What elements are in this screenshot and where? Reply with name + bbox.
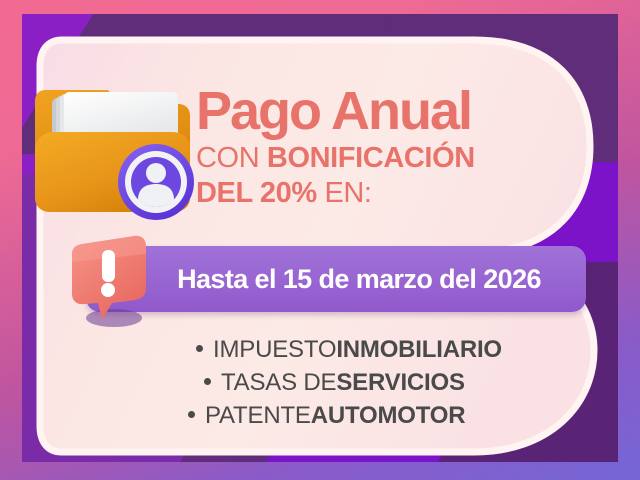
headline-line-3: DEL 20% EN: bbox=[196, 176, 556, 211]
folder-documents-user-icon bbox=[30, 72, 208, 232]
headline-line-2-plain: CON bbox=[196, 142, 267, 174]
list-item: PATENTE AUTOMOTOR bbox=[162, 400, 562, 433]
benefits-list: IMPUESTO INMOBILIARIO TASAS DE SERVICIOS… bbox=[162, 334, 562, 433]
headline-title: Pago Anual bbox=[196, 86, 556, 138]
exclamation-bubble-icon bbox=[58, 230, 162, 334]
headline-line-3-plain: EN: bbox=[317, 177, 372, 209]
list-item: IMPUESTO INMOBILIARIO bbox=[162, 334, 562, 367]
headline-line-2: CON BONIFICACIÓN bbox=[196, 141, 556, 176]
headline-block: Pago Anual CON BONIFICACIÓN DEL 20% EN: bbox=[196, 86, 556, 212]
bullet-dot-icon bbox=[204, 378, 211, 385]
list-item-plain: PATENTE bbox=[205, 400, 311, 433]
content-card: Pago Anual CON BONIFICACIÓN DEL 20% EN: … bbox=[34, 34, 618, 458]
list-item-plain: IMPUESTO bbox=[213, 334, 336, 367]
list-item-bold: SERVICIOS bbox=[336, 367, 464, 400]
headline-line-2-bold: BONIFICACIÓN bbox=[267, 142, 475, 174]
headline-line-3-bold: DEL 20% bbox=[196, 177, 317, 209]
list-item-bold: INMOBILIARIO bbox=[336, 334, 502, 367]
list-item: TASAS DE SERVICIOS bbox=[162, 367, 562, 400]
bullet-dot-icon bbox=[196, 345, 203, 352]
promo-poster: Pago Anual CON BONIFICACIÓN DEL 20% EN: … bbox=[0, 0, 640, 480]
deadline-banner-text: Hasta el 15 de marzo del 2026 bbox=[131, 264, 541, 295]
list-item-bold: AUTOMOTOR bbox=[311, 400, 466, 433]
list-item-plain: TASAS DE bbox=[221, 367, 336, 400]
bullet-dot-icon bbox=[188, 411, 195, 418]
